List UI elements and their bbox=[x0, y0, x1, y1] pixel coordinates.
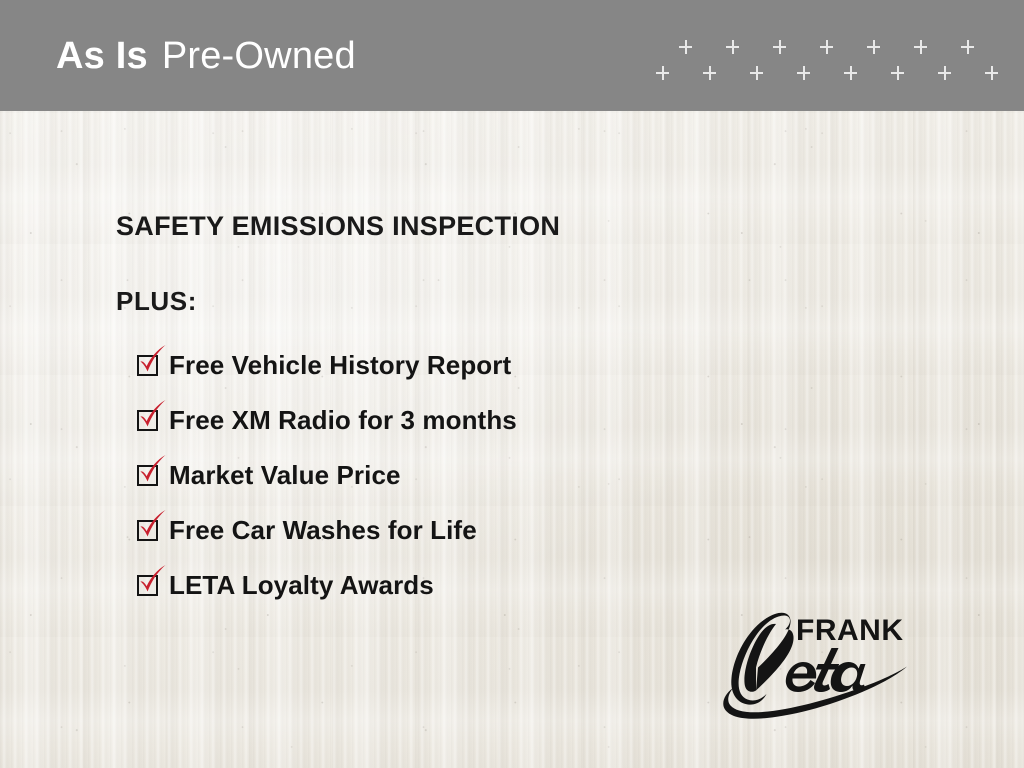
checkbox-checked[interactable] bbox=[137, 465, 158, 486]
checkmark-icon bbox=[138, 454, 168, 486]
checkbox-checked[interactable] bbox=[137, 355, 158, 376]
checkmark-icon bbox=[138, 509, 168, 541]
checkmark-icon bbox=[138, 399, 168, 431]
plus-icon bbox=[985, 66, 1024, 80]
checkbox-checked[interactable] bbox=[137, 410, 158, 431]
plus-icon bbox=[891, 66, 938, 80]
plus-icon bbox=[867, 40, 914, 54]
plus-icon bbox=[961, 40, 1008, 54]
plus-icon bbox=[703, 66, 750, 80]
plus-icon bbox=[726, 40, 773, 54]
checkmark-icon bbox=[138, 344, 168, 376]
logo-frank-text: FRANK bbox=[796, 614, 904, 647]
checkbox-checked[interactable] bbox=[137, 575, 158, 596]
list-item: Free Vehicle History Report bbox=[137, 338, 816, 393]
plus-icon bbox=[656, 66, 703, 80]
list-item: Market Value Price bbox=[137, 448, 816, 503]
list-item-label: Free Car Washes for Life bbox=[169, 517, 477, 543]
plus-icon bbox=[914, 40, 961, 54]
plus-decoration-row-top bbox=[679, 40, 1008, 54]
list-item: Free Car Washes for Life bbox=[137, 503, 816, 558]
list-item-label: Market Value Price bbox=[169, 462, 401, 488]
plus-icon bbox=[844, 66, 891, 80]
plus-icon bbox=[938, 66, 985, 80]
checkbox-checked[interactable] bbox=[137, 520, 158, 541]
plus-section-label: PLUS: bbox=[116, 288, 816, 314]
plus-icon bbox=[773, 40, 820, 54]
brand-logo: FRANK bbox=[700, 604, 915, 719]
benefits-checklist: Free Vehicle History Report Free XM Radi… bbox=[116, 338, 816, 613]
headline-text: SAFETY EMISSIONS INSPECTION bbox=[116, 212, 816, 242]
plus-icon bbox=[820, 40, 867, 54]
plus-icon bbox=[797, 66, 844, 80]
frank-leta-logomark: FRANK bbox=[700, 604, 915, 719]
list-item-label: LETA Loyalty Awards bbox=[169, 572, 434, 598]
page-title-primary: As Is bbox=[56, 35, 148, 77]
slide-content: SAFETY EMISSIONS INSPECTION PLUS: Free V… bbox=[116, 212, 816, 613]
header-band: As IsPre-Owned bbox=[0, 0, 1024, 111]
list-item-label: Free XM Radio for 3 months bbox=[169, 407, 517, 433]
plus-icon bbox=[679, 40, 726, 54]
plus-decoration-row-bottom bbox=[656, 66, 1024, 80]
slide-canvas: As IsPre-Owned bbox=[0, 0, 1024, 768]
checkmark-icon bbox=[138, 564, 168, 596]
list-item-label: Free Vehicle History Report bbox=[169, 352, 511, 378]
list-item: Free XM Radio for 3 months bbox=[137, 393, 816, 448]
plus-icon bbox=[750, 66, 797, 80]
page-title-secondary: Pre-Owned bbox=[162, 35, 356, 77]
plus-decoration-group bbox=[656, 40, 1006, 90]
page-title: As IsPre-Owned bbox=[56, 37, 356, 75]
